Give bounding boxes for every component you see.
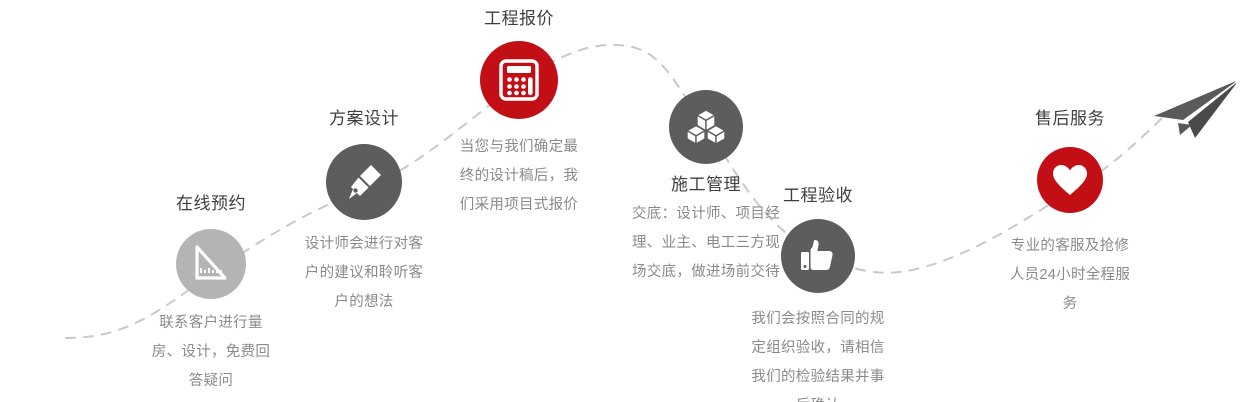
process-flow-infographic: 在线预约 联系客户进行量 房、设计，免费回 答疑问 方案设计 <box>0 0 1245 402</box>
step-description: 我们会按照合同的规 定组织验收，请相信 我们的检验结果并事 后确认 <box>716 305 920 402</box>
step-description-line: 定组织验收，请相信 <box>716 334 920 363</box>
step-project-quote[interactable]: 工程报价 当您与我们确定最 <box>419 8 619 220</box>
step-after-sales[interactable]: 售后服务 专业的客服及抢修 人员24小时全程服 务 <box>970 108 1170 319</box>
step-description-line: 房、设计，免费回 <box>111 338 311 367</box>
step-description-line: 专业的客服及抢修 <box>970 232 1170 261</box>
step-description-line: 终的设计稿后，我 <box>419 162 619 191</box>
heart-icon <box>1037 147 1103 213</box>
step-description-line: 户的想法 <box>264 288 464 317</box>
step-description: 设计师会进行对客 户的建议和聆听客 户的想法 <box>264 230 464 317</box>
thumbs-up-icon <box>781 219 855 293</box>
calculator-icon <box>480 41 558 119</box>
step-description-line: 答疑问 <box>111 367 311 396</box>
step-description-line: 户的建议和聆听客 <box>264 259 464 288</box>
step-description-line: 当您与我们确定最 <box>419 133 619 162</box>
step-description-line: 们采用项目式报价 <box>419 191 619 220</box>
step-description-line: 设计师会进行对客 <box>264 230 464 259</box>
stacked-boxes-icon <box>669 90 743 164</box>
step-title: 售后服务 <box>970 108 1170 130</box>
step-description: 当您与我们确定最 终的设计稿后，我 们采用项目式报价 <box>419 133 619 220</box>
step-description-line: 务 <box>970 290 1170 319</box>
step-description-line: 我们会按照合同的规 <box>716 305 920 334</box>
step-title: 工程报价 <box>419 8 619 30</box>
step-description: 联系客户进行量 房、设计，免费回 答疑问 <box>111 309 311 396</box>
step-description-line: 后确认 <box>716 392 920 402</box>
triangle-ruler-icon <box>176 229 246 299</box>
step-description-line: 我们的检验结果并事 <box>716 363 920 392</box>
step-description-line: 人员24小时全程服 <box>970 261 1170 290</box>
fountain-pen-icon <box>326 144 402 220</box>
step-description: 专业的客服及抢修 人员24小时全程服 务 <box>970 232 1170 319</box>
step-title: 工程验收 <box>716 185 920 207</box>
step-project-acceptance[interactable]: 工程验收 我们会按照合同的规 定组织验收，请相信 我们的检验结果并事 后确认 <box>716 185 920 402</box>
